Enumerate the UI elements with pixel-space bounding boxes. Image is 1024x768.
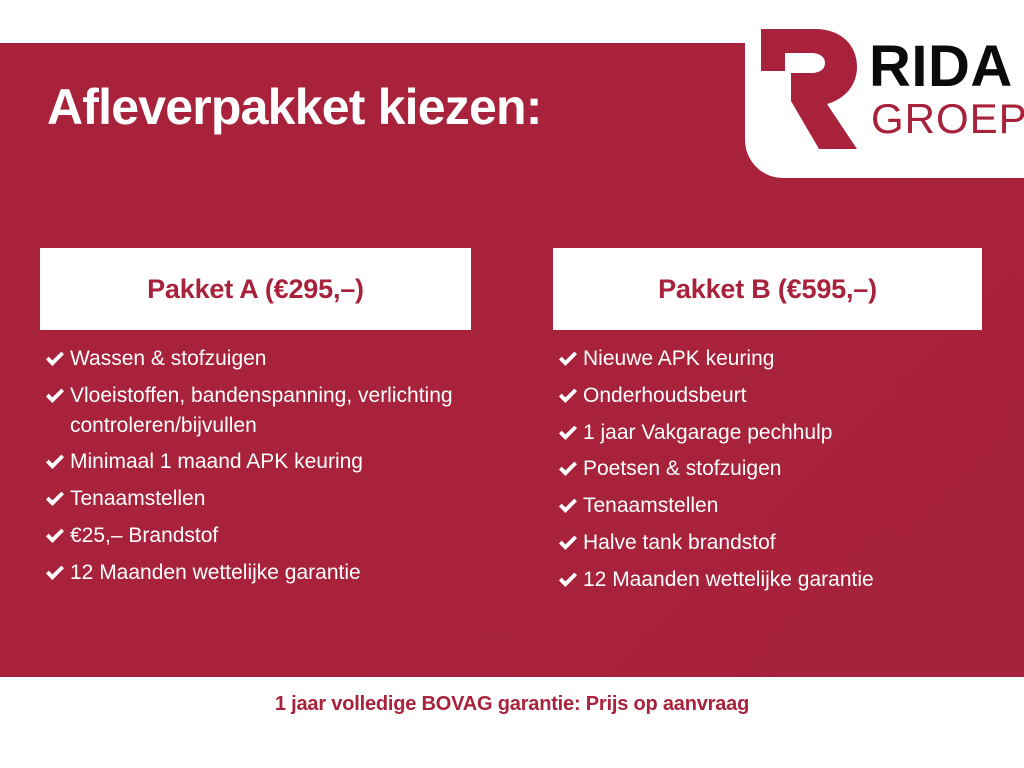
check-icon xyxy=(40,381,70,406)
list-item: 1 jaar Vakgarage pechhulp xyxy=(553,418,982,448)
feature-text: Tenaamstellen xyxy=(70,484,471,514)
footer-bar: 1 jaar volledige BOVAG garantie: Prijs o… xyxy=(0,677,1024,768)
check-icon xyxy=(40,558,70,583)
check-icon xyxy=(553,344,583,369)
brand-name-primary: RIDA xyxy=(869,38,1024,96)
check-icon xyxy=(40,447,70,472)
list-item: 12 Maanden wettelijke garantie xyxy=(40,558,471,588)
list-item: Wassen & stofzuigen xyxy=(40,344,471,374)
check-icon xyxy=(40,484,70,509)
list-item: Vloeistoffen, bandenspanning, verlichtin… xyxy=(40,381,471,441)
package-b-title: Pakket B (€595,–) xyxy=(658,274,877,305)
feature-text: €25,– Brandstof xyxy=(70,521,471,551)
rida-r-mark-icon xyxy=(755,27,859,151)
feature-text: Poetsen & stofzuigen xyxy=(583,454,982,484)
list-item: Tenaamstellen xyxy=(40,484,471,514)
footer-note: 1 jaar volledige BOVAG garantie: Prijs o… xyxy=(275,693,749,768)
list-item: Onderhoudsbeurt xyxy=(553,381,982,411)
package-column-b: Pakket B (€595,–) Nieuwe APK keuring Ond… xyxy=(553,248,982,602)
feature-text: Tenaamstellen xyxy=(583,491,982,521)
brand-wordmark: RIDA GROEP xyxy=(869,38,1024,140)
check-icon xyxy=(553,491,583,516)
feature-text: 1 jaar Vakgarage pechhulp xyxy=(583,418,982,448)
package-a-title: Pakket A (€295,–) xyxy=(147,274,364,305)
feature-text: 12 Maanden wettelijke garantie xyxy=(583,565,982,595)
feature-text: Wassen & stofzuigen xyxy=(70,344,471,374)
feature-text: Minimaal 1 maand APK keuring xyxy=(70,447,471,477)
check-icon xyxy=(40,521,70,546)
slide-root: RIDA GROEP Afleverpakket kiezen: Pakket … xyxy=(0,0,1024,768)
page-title: Afleverpakket kiezen: xyxy=(47,78,542,136)
check-icon xyxy=(553,454,583,479)
list-item: Minimaal 1 maand APK keuring xyxy=(40,447,471,477)
package-a-feature-list: Wassen & stofzuigen Vloeistoffen, banden… xyxy=(40,344,471,588)
list-item: €25,– Brandstof xyxy=(40,521,471,551)
brand-logo: RIDA GROEP xyxy=(745,0,1024,178)
package-columns: Pakket A (€295,–) Wassen & stofzuigen Vl… xyxy=(0,248,1024,602)
list-item: 12 Maanden wettelijke garantie xyxy=(553,565,982,595)
check-icon xyxy=(553,418,583,443)
feature-text: 12 Maanden wettelijke garantie xyxy=(70,558,471,588)
check-icon xyxy=(553,381,583,406)
package-b-feature-list: Nieuwe APK keuring Onderhoudsbeurt 1 jaa… xyxy=(553,344,982,595)
package-column-a: Pakket A (€295,–) Wassen & stofzuigen Vl… xyxy=(40,248,471,602)
brand-name-secondary: GROEP xyxy=(871,98,1024,140)
feature-text: Halve tank brandstof xyxy=(583,528,982,558)
list-item: Tenaamstellen xyxy=(553,491,982,521)
check-icon xyxy=(40,344,70,369)
list-item: Poetsen & stofzuigen xyxy=(553,454,982,484)
check-icon xyxy=(553,528,583,553)
check-icon xyxy=(553,565,583,590)
feature-text: Vloeistoffen, bandenspanning, verlichtin… xyxy=(70,381,471,441)
list-item: Nieuwe APK keuring xyxy=(553,344,982,374)
feature-text: Nieuwe APK keuring xyxy=(583,344,982,374)
list-item: Halve tank brandstof xyxy=(553,528,982,558)
package-b-header[interactable]: Pakket B (€595,–) xyxy=(553,248,982,330)
feature-text: Onderhoudsbeurt xyxy=(583,381,982,411)
package-a-header[interactable]: Pakket A (€295,–) xyxy=(40,248,471,330)
